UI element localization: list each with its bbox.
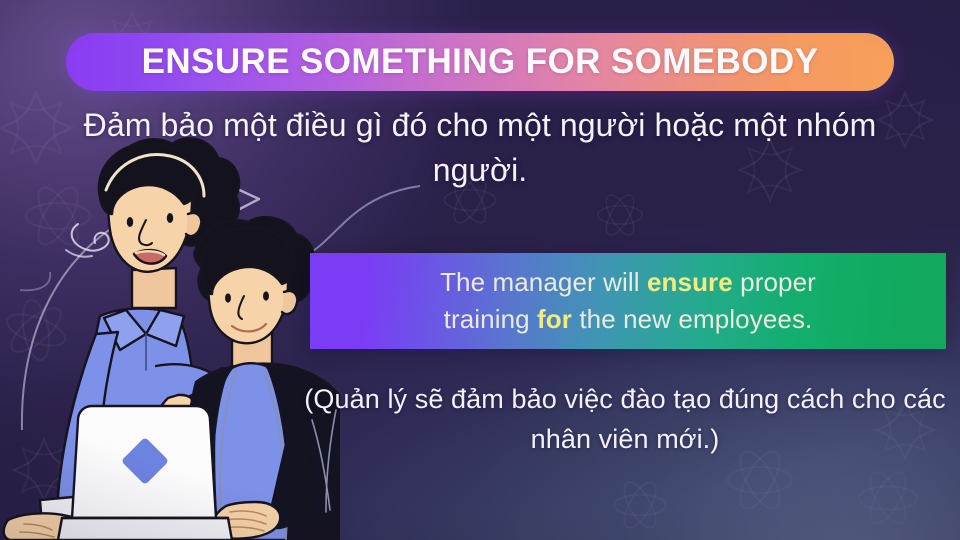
example-sentence-box: The manager will ensure proper training … [310, 253, 946, 349]
slide-canvas: ENSURE SOMETHING FOR SOMEBODY Đảm bảo mộ… [0, 0, 960, 540]
title-banner: ENSURE SOMETHING FOR SOMEBODY [66, 33, 894, 91]
title-text: ENSURE SOMETHING FOR SOMEBODY [142, 42, 819, 82]
example-line2-after: the new employees. [572, 304, 812, 334]
example-sentence-line-2: training for the new employees. [444, 301, 813, 338]
example-sentence-line-1: The manager will ensure proper [440, 264, 816, 301]
translation-vietnamese: (Quản lý sẽ đảm bảo việc đào tạo đúng cá… [300, 380, 950, 460]
example-line2-before: training [444, 304, 537, 334]
example-line1-highlight: ensure [647, 267, 733, 297]
example-line1-after: proper [733, 267, 816, 297]
subtitle-vietnamese: Đảm bảo một điều gì đó cho một người hoặ… [50, 103, 910, 194]
example-line2-highlight: for [537, 304, 572, 334]
example-line1-before: The manager will [440, 267, 647, 297]
